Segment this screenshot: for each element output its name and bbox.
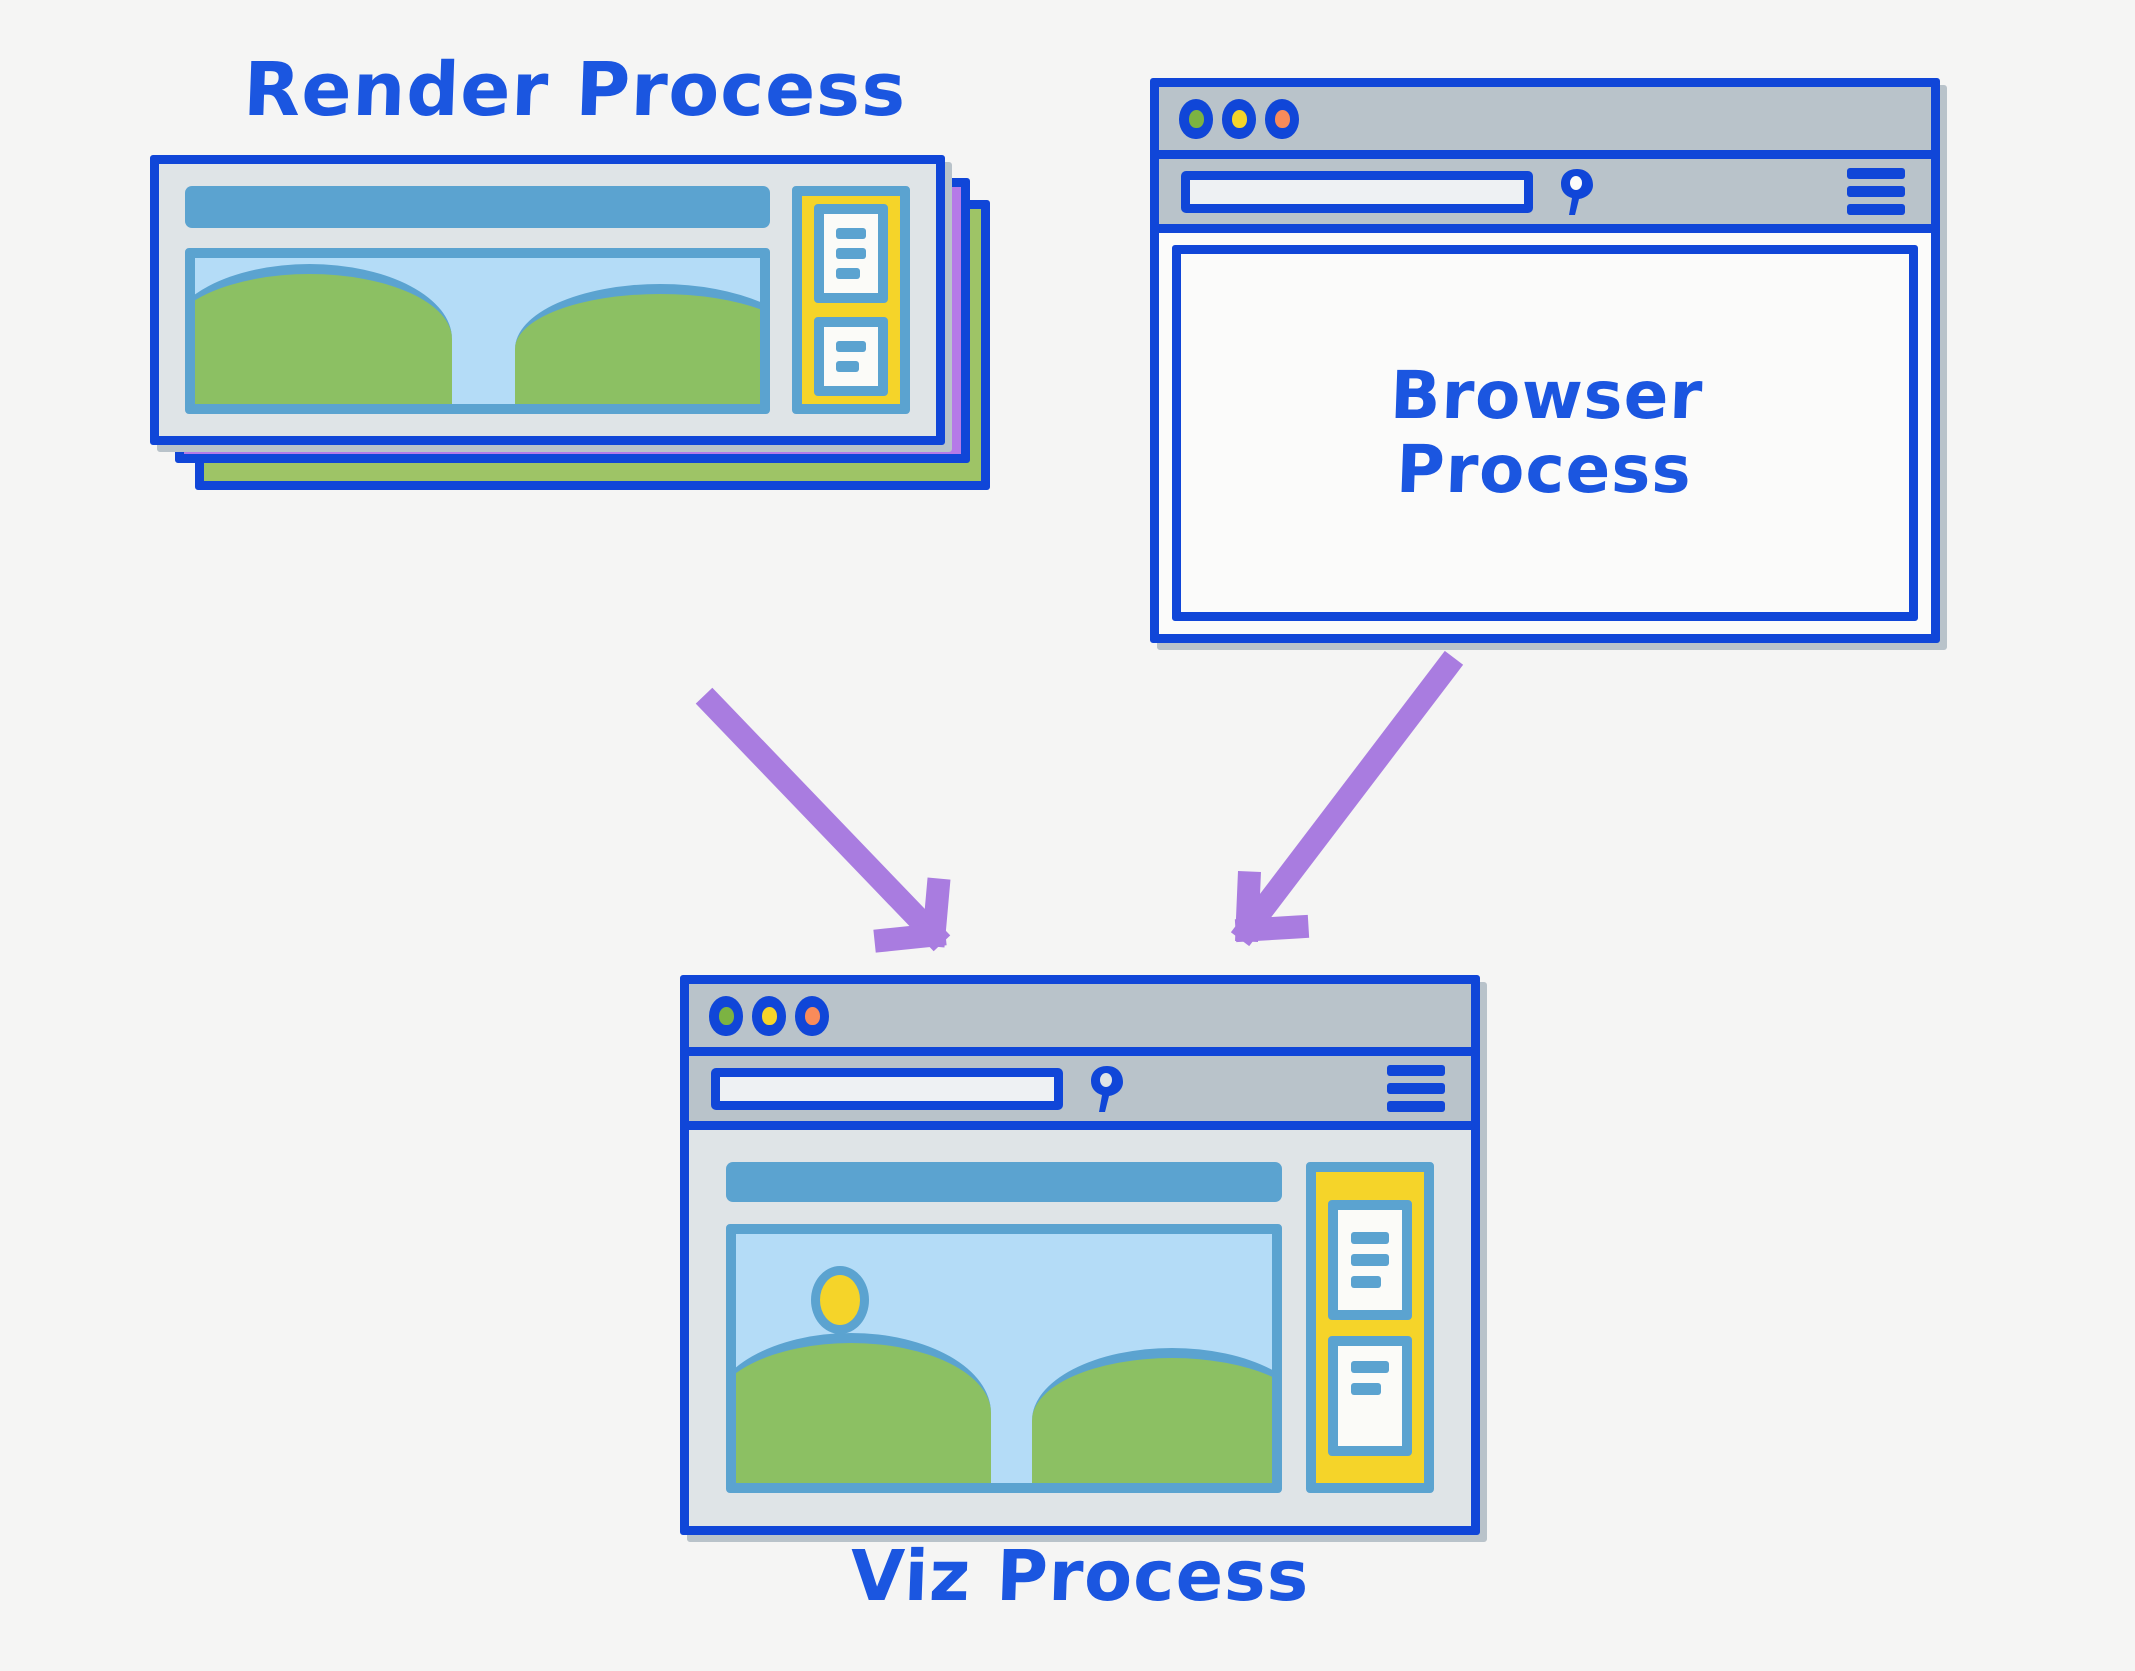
card-text-line — [836, 341, 866, 352]
url-input[interactable] — [1181, 171, 1533, 213]
render-process-label: Render Process — [169, 52, 982, 130]
card-text-line — [836, 248, 866, 259]
url-input[interactable] — [711, 1068, 1063, 1110]
traffic-light-green[interactable] — [709, 996, 743, 1036]
card-text-line — [836, 228, 866, 239]
viz-process-window[interactable] — [680, 975, 1480, 1535]
card-text-line — [1351, 1383, 1381, 1395]
render-page-content — [159, 164, 936, 436]
hamburger-menu-icon[interactable] — [1387, 1065, 1445, 1112]
card-text-line — [1351, 1276, 1381, 1288]
browser-process-window[interactable]: Browser Process — [1150, 78, 1940, 643]
hero-image-placeholder — [185, 248, 770, 414]
viz-titlebar — [689, 984, 1471, 1056]
header-placeholder-bar — [185, 186, 770, 228]
viz-toolbar — [689, 1056, 1471, 1130]
viz-page-content — [702, 1142, 1458, 1513]
hamburger-menu-icon[interactable] — [1847, 168, 1905, 215]
traffic-light-orange[interactable] — [1265, 99, 1299, 139]
viz-page-main — [726, 1162, 1282, 1493]
search-icon[interactable] — [1555, 166, 1599, 218]
hill-right-shape — [1032, 1348, 1282, 1493]
header-placeholder-bar — [726, 1162, 1282, 1202]
sidebar-card[interactable] — [1328, 1336, 1412, 1456]
viz-sidebar-rail — [1306, 1162, 1434, 1493]
card-text-line — [836, 361, 859, 372]
hill-left-shape — [726, 1333, 991, 1493]
render-page-main — [185, 186, 770, 414]
diagram-canvas: Render Process — [0, 0, 2135, 1671]
sidebar-card[interactable] — [814, 317, 888, 396]
traffic-light-yellow[interactable] — [752, 996, 786, 1036]
card-text-line — [1351, 1361, 1389, 1373]
card-text-line — [836, 268, 860, 279]
browser-toolbar — [1159, 159, 1931, 233]
viz-process-label: Viz Process — [779, 1540, 1382, 1614]
traffic-light-green[interactable] — [1179, 99, 1213, 139]
traffic-lights — [1159, 99, 1299, 139]
render-process-window[interactable] — [150, 155, 945, 445]
browser-process-label: Browser Process — [1386, 359, 1704, 507]
search-icon[interactable] — [1085, 1063, 1129, 1115]
hill-left-shape — [185, 264, 452, 414]
hill-right-shape — [515, 284, 770, 414]
browser-titlebar — [1159, 87, 1931, 159]
hero-image-placeholder — [726, 1224, 1282, 1493]
card-text-line — [1351, 1254, 1389, 1266]
traffic-lights — [689, 996, 829, 1036]
card-text-line — [1351, 1232, 1389, 1244]
arrow-render-to-viz — [690, 690, 1000, 980]
render-sidebar-rail — [792, 186, 910, 414]
traffic-light-yellow[interactable] — [1222, 99, 1256, 139]
arrow-browser-to-viz — [1215, 655, 1485, 975]
traffic-light-orange[interactable] — [795, 996, 829, 1036]
browser-body: Browser Process — [1172, 245, 1918, 621]
sun-icon — [811, 1266, 869, 1334]
sidebar-card[interactable] — [1328, 1200, 1412, 1320]
sidebar-card[interactable] — [814, 204, 888, 303]
